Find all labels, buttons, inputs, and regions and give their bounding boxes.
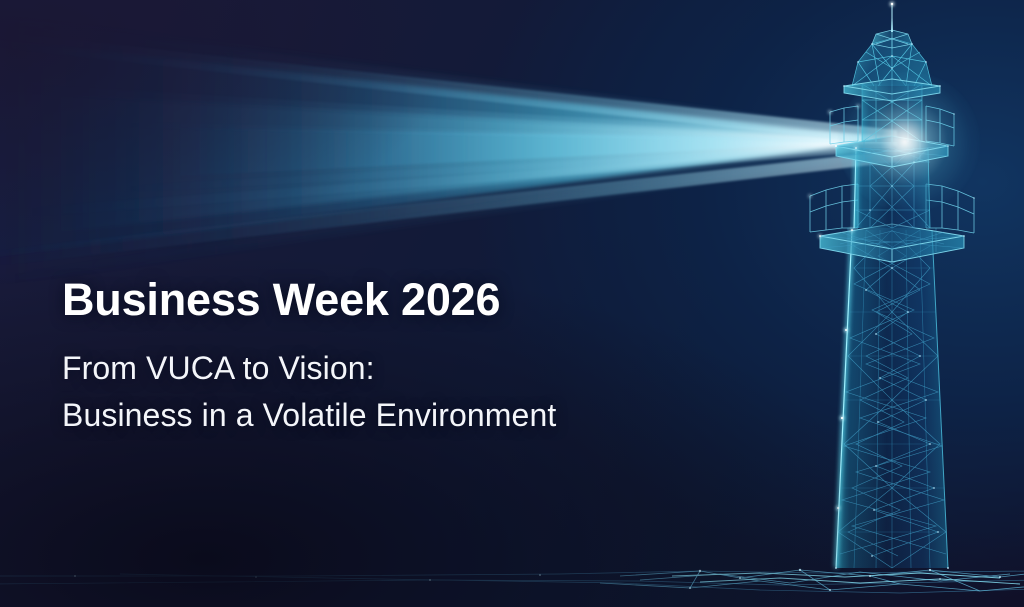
banner-subtitle-line-1: From VUCA to Vision: (62, 345, 762, 392)
hero-banner: Business Week 2026 From VUCA to Vision: … (0, 0, 1024, 607)
banner-headline: Business Week 2026 (62, 276, 762, 323)
banner-subtitle: From VUCA to Vision: Business in a Volat… (62, 345, 762, 439)
banner-subtitle-line-2: Business in a Volatile Environment (62, 392, 762, 439)
banner-text-block: Business Week 2026 From VUCA to Vision: … (62, 276, 762, 439)
